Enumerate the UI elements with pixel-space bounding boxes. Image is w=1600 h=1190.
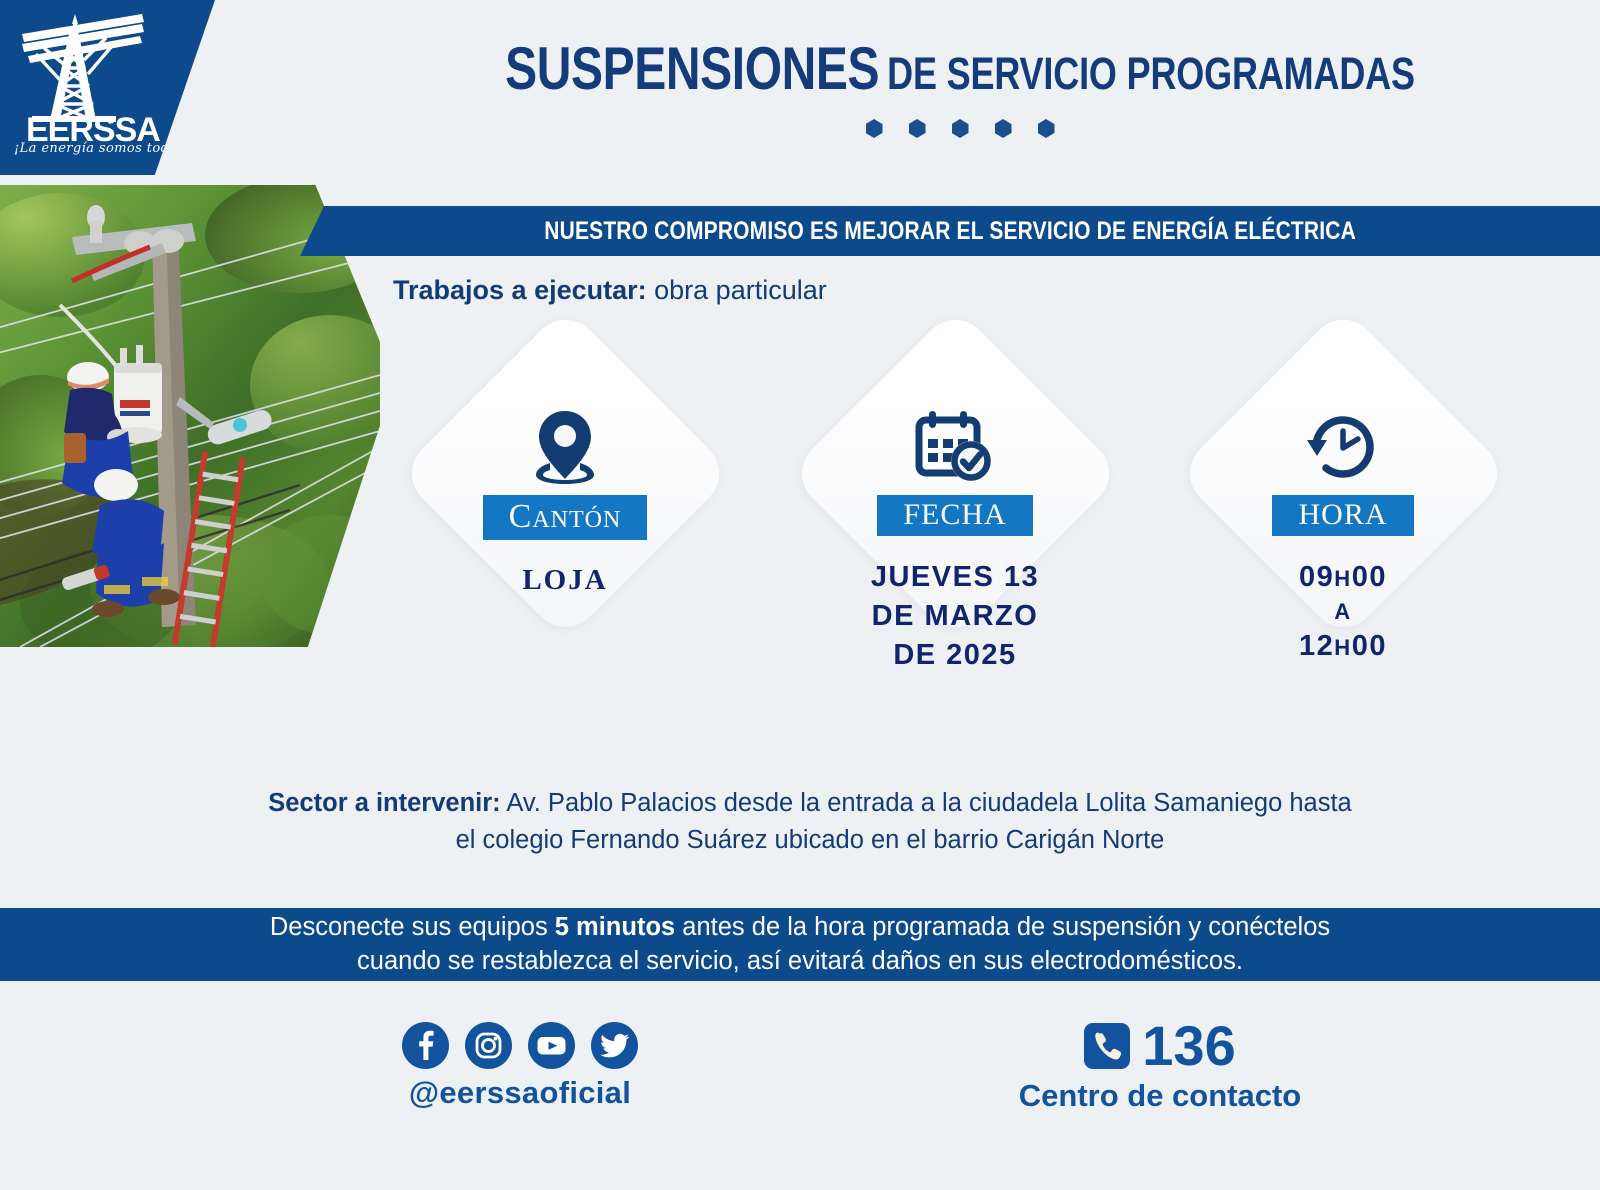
card-value-hora: 09H00 A 12H00: [1299, 558, 1387, 666]
title-dots-decoration: [360, 119, 1560, 138]
dot-icon: [866, 119, 883, 138]
dot-icon: [1038, 119, 1055, 138]
warning-part-1: Desconecte sus equipos: [270, 913, 555, 941]
facebook-icon[interactable]: [402, 1022, 449, 1069]
hora-line-2: A: [1299, 597, 1387, 627]
works-line: Trabajos a ejecutar: obra particular: [393, 275, 827, 306]
warning-part-2: antes de la hora programada de suspensió…: [675, 913, 1330, 941]
transmission-tower-icon: EERSSA: [14, 8, 164, 143]
card-fecha: FECHA JUEVES 13 DE MARZO DE 2025: [790, 355, 1120, 685]
sector-line-2: el colegio Fernando Suárez ubicado en el…: [456, 826, 1165, 854]
sector-line-1: Av. Pablo Palacios desde la entrada a la…: [506, 789, 1351, 817]
dot-icon: [952, 119, 969, 138]
calendar-check-icon: [915, 409, 995, 485]
warning-banner: Desconecte sus equipos 5 minutos antes d…: [0, 908, 1600, 981]
warning-bold: 5 minutos: [555, 913, 675, 941]
phone-icon: [1084, 1023, 1130, 1069]
fecha-line-3: DE 2025: [871, 636, 1039, 675]
social-block: @eerssaoficial: [330, 1022, 710, 1111]
hora-start-min: 00: [1352, 561, 1387, 593]
title-main: SUSPENSIONES: [505, 35, 879, 102]
title-sub: DE SERVICIO PROGRAMADAS: [887, 48, 1415, 99]
brand-logo-panel: EERSSA ¡La energía somos todos!: [0, 0, 215, 175]
hora-line-1: 09H00: [1299, 558, 1387, 597]
card-label-fecha: FECHA: [877, 495, 1032, 536]
instagram-icon[interactable]: [465, 1022, 512, 1069]
contact-row: 136: [960, 1018, 1360, 1074]
contact-phone-number: 136: [1142, 1018, 1235, 1074]
warning-text: Desconecte sus equipos 5 minutos antes d…: [130, 911, 1470, 979]
location-pin-icon: [528, 409, 602, 485]
hora-start-hour: 09: [1299, 561, 1334, 593]
dot-icon: [909, 119, 926, 138]
sector-block: Sector a intervenir: Av. Pablo Palacios …: [120, 785, 1500, 859]
fecha-line-2: DE MARZO: [871, 597, 1039, 636]
brand-tagline: ¡La energía somos todos!: [14, 141, 164, 156]
card-value-fecha: JUEVES 13 DE MARZO DE 2025: [871, 558, 1039, 675]
title-line: SUSPENSIONESDE SERVICIO PROGRAMADAS: [480, 34, 1440, 103]
youtube-icon[interactable]: [528, 1022, 575, 1069]
social-handle[interactable]: @eerssaoficial: [330, 1075, 710, 1111]
hora-line-3: 12H00: [1299, 627, 1387, 666]
contact-label: Centro de contacto: [960, 1078, 1360, 1114]
dot-icon: [995, 119, 1012, 138]
commitment-banner: NUESTRO COMPROMISO ES MEJORAR EL SERVICI…: [300, 206, 1600, 256]
fecha-line-1: JUEVES 13: [871, 558, 1039, 597]
hora-end-h: H: [1334, 635, 1351, 660]
card-canton: Cantón LOJA: [400, 355, 730, 685]
works-label: Trabajos a ejecutar:: [393, 275, 647, 305]
warning-line-2: cuando se restablezca el servicio, así e…: [357, 947, 1243, 975]
works-value: obra particular: [654, 275, 827, 305]
hora-start-h: H: [1334, 566, 1351, 591]
commitment-banner-text: NUESTRO COMPROMISO ES MEJORAR EL SERVICI…: [544, 217, 1356, 246]
info-cards: Cantón LOJA: [370, 355, 1570, 735]
social-icons: [330, 1022, 710, 1069]
twitter-icon[interactable]: [591, 1022, 638, 1069]
card-label-hora: HORA: [1272, 495, 1413, 536]
page-title: SUSPENSIONESDE SERVICIO PROGRAMADAS: [360, 34, 1560, 138]
svg-text:EERSSA: EERSSA: [26, 111, 160, 143]
clock-rewind-icon: [1304, 409, 1382, 485]
card-hora: HORA 09H00 A 12H00: [1178, 355, 1508, 685]
contact-block: 136 Centro de contacto: [960, 1018, 1360, 1114]
sector-label: Sector a intervenir:: [268, 789, 500, 817]
hora-end-min: 00: [1352, 630, 1387, 662]
card-value-canton: LOJA: [522, 562, 607, 598]
card-label-canton: Cantón: [483, 495, 648, 540]
hora-end-hour: 12: [1299, 630, 1334, 662]
